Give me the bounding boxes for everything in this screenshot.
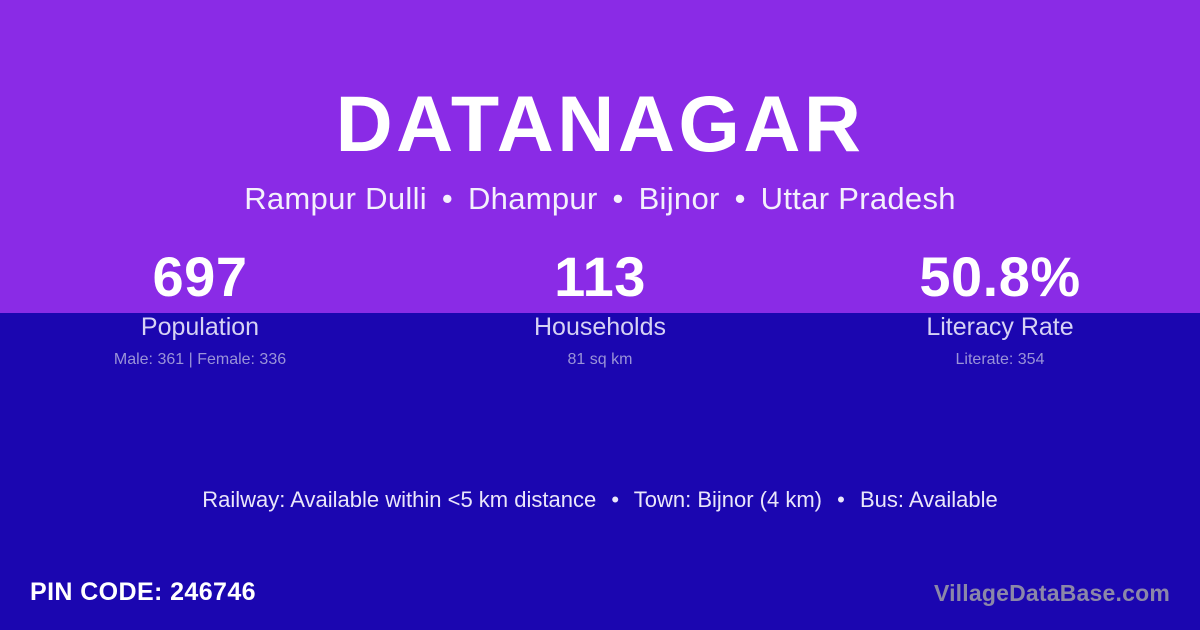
infra-town: Town: Bijnor (4 km) — [634, 487, 822, 512]
location-breadcrumb: Rampur Dulli • Dhampur • Bijnor • Uttar … — [0, 182, 1200, 216]
stat-households: 113 Households 81 sq km — [400, 243, 800, 370]
infra-separator: • — [828, 487, 854, 512]
stat-value-households: 113 — [400, 243, 800, 311]
infra-railway: Railway: Available within <5 km distance — [202, 487, 596, 512]
page-title: DATANAGAR — [0, 84, 1200, 163]
infra-bus: Bus: Available — [860, 487, 998, 512]
breadcrumb-separator: • — [436, 181, 459, 216]
stat-value-population: 697 — [0, 243, 400, 311]
breadcrumb-separator: • — [607, 181, 630, 216]
breadcrumb-state: Uttar Pradesh — [761, 181, 956, 216]
stat-population: 697 Population Male: 361 | Female: 336 — [0, 243, 400, 370]
village-data-card: DATANAGAR Rampur Dulli • Dhampur • Bijno… — [0, 0, 1200, 630]
stat-literacy-rate: 50.8% Literacy Rate Literate: 354 — [800, 243, 1200, 370]
stat-label-households: Households — [400, 312, 800, 342]
stats-row: 697 Population Male: 361 | Female: 336 1… — [0, 243, 1200, 370]
breadcrumb-block: Dhampur — [468, 181, 598, 216]
breadcrumb-village: Rampur Dulli — [244, 181, 427, 216]
stat-sub-households: 81 sq km — [400, 350, 800, 370]
stat-sub-literacy-rate: Literate: 354 — [800, 350, 1200, 370]
stat-sub-population: Male: 361 | Female: 336 — [0, 350, 400, 370]
pin-code-label: PIN CODE: 246746 — [30, 575, 256, 609]
stat-value-literacy-rate: 50.8% — [800, 243, 1200, 311]
breadcrumb-separator: • — [729, 181, 752, 216]
infra-separator: • — [602, 487, 628, 512]
stat-label-population: Population — [0, 312, 400, 342]
infrastructure-line: Railway: Available within <5 km distance… — [0, 485, 1200, 515]
breadcrumb-district: Bijnor — [639, 181, 720, 216]
stat-label-literacy-rate: Literacy Rate — [800, 312, 1200, 342]
brand-watermark: VillageDataBase.com — [934, 577, 1170, 609]
